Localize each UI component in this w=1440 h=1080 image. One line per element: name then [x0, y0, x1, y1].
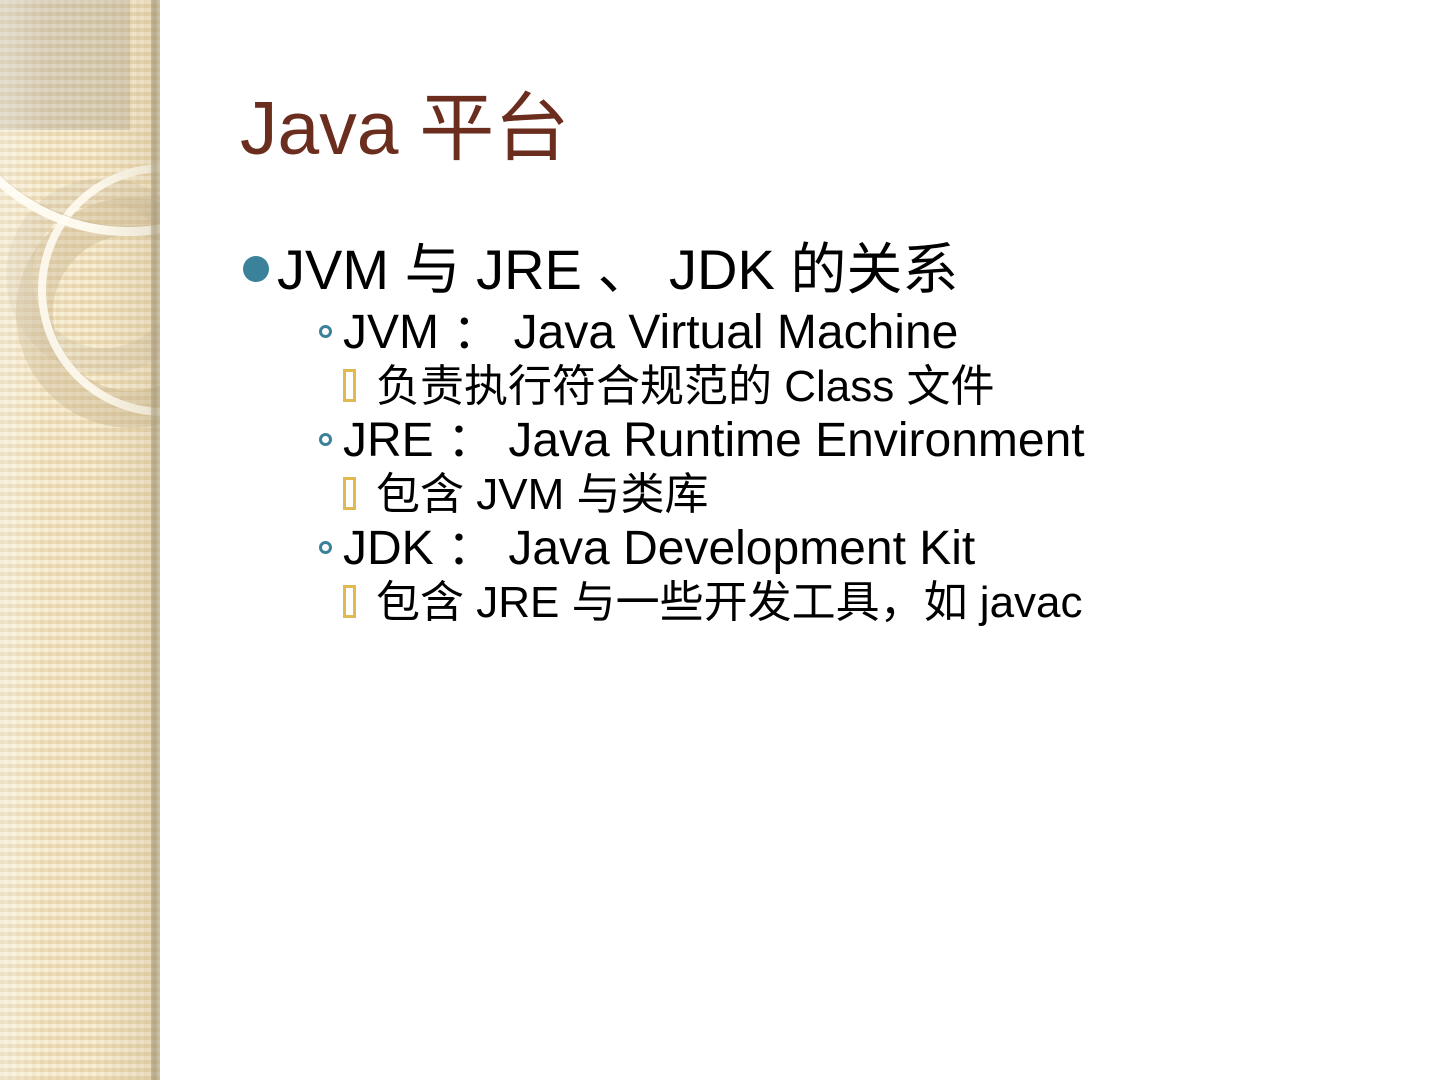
- slide-title: Java 平台: [240, 86, 569, 170]
- hollow-circle-bullet-icon: [319, 521, 343, 554]
- bullet-item-level3: 包含 JRE 与一些开发工具，如 javac: [343, 577, 1423, 629]
- hollow-box-bullet-icon: [343, 469, 376, 510]
- hollow-circle-bullet-icon: [319, 413, 343, 446]
- decorative-sidebar: [0, 0, 160, 1080]
- hollow-circle-bullet-icon: [319, 305, 343, 338]
- hollow-box-bullet-icon: [343, 577, 376, 618]
- bullet-text: JRE ： Java Runtime Environment: [343, 413, 1085, 469]
- bullet-item-level2: JVM ： Java Virtual Machine: [319, 305, 1423, 361]
- slide-body-content: JVM 与 JRE 、 JDK 的关系 JVM ： Java Virtual M…: [243, 238, 1423, 629]
- hollow-box-bullet-icon: [343, 361, 376, 402]
- bullet-text: 包含 JVM 与类库: [376, 469, 708, 521]
- bullet-item-level2: JDK ： Java Development Kit: [319, 521, 1423, 577]
- sidebar-edge-strip: [151, 0, 160, 1080]
- presentation-slide: Java 平台 JVM 与 JRE 、 JDK 的关系 JVM ： Java V…: [0, 0, 1440, 1080]
- bullet-text: JVM ： Java Virtual Machine: [343, 305, 958, 361]
- sidebar-sheen-overlay: [0, 0, 160, 1080]
- bullet-text: JVM 与 JRE 、 JDK 的关系: [277, 238, 958, 303]
- filled-disc-bullet-icon: [243, 238, 277, 282]
- bullet-item-level2: JRE ： Java Runtime Environment: [319, 413, 1423, 469]
- bullet-text: 负责执行符合规范的 Class 文件: [376, 361, 994, 413]
- bullet-text: JDK ： Java Development Kit: [343, 521, 975, 577]
- bullet-text: 包含 JRE 与一些开发工具，如 javac: [376, 577, 1083, 629]
- bullet-item-level3: 负责执行符合规范的 Class 文件: [343, 361, 1423, 413]
- bullet-item-level1: JVM 与 JRE 、 JDK 的关系: [243, 238, 1423, 303]
- bullet-item-level3: 包含 JVM 与类库: [343, 469, 1423, 521]
